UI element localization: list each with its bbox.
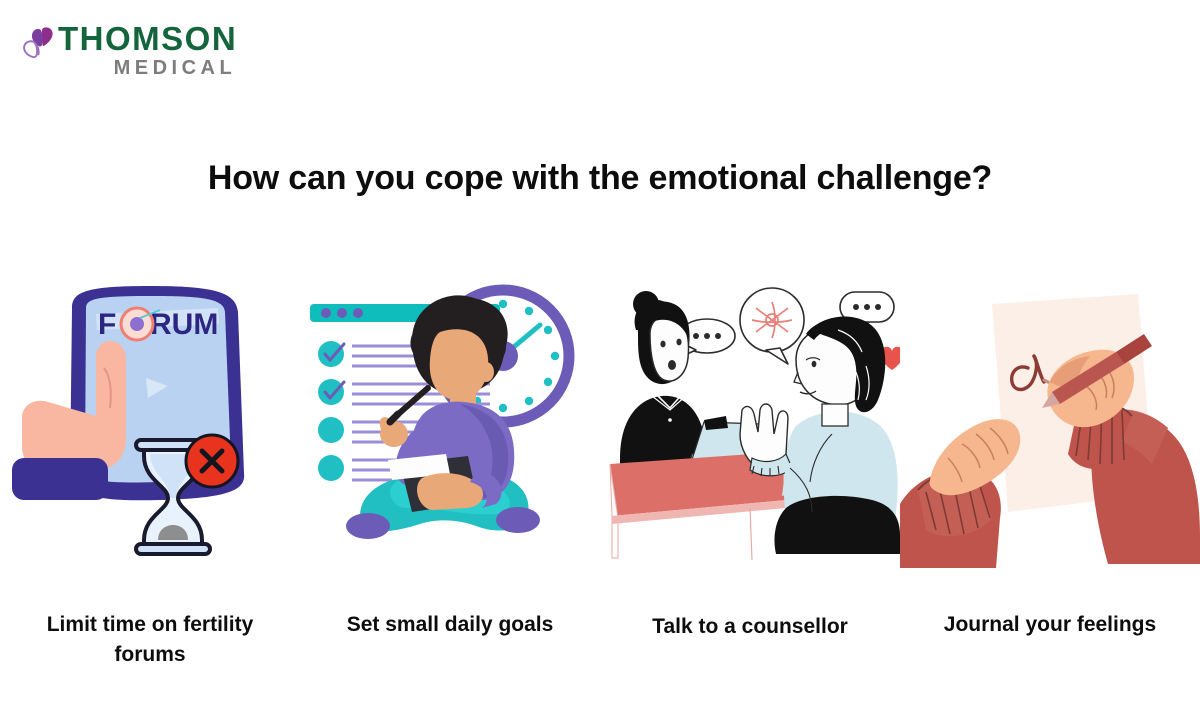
forum-letter-f: F (98, 308, 116, 341)
sleeve-cuff (12, 458, 108, 500)
tip-caption-3: Talk to a counsellor (630, 612, 870, 642)
checklist-checkbox-4[interactable] (318, 455, 344, 481)
tips-row: F RUM (0, 268, 1200, 670)
tip-caption-1: Limit time on fertility forums (30, 610, 270, 670)
hands-writing-journal-illustration (900, 268, 1200, 568)
speech-bubble-scribble (740, 288, 804, 364)
tip-card-limit-forum-time: F RUM (0, 268, 300, 670)
forum-letters-rum: RUM (150, 308, 218, 341)
butterfly-heart-logo-icon (20, 24, 56, 64)
tip-card-journal-feelings: Journal your feelings (900, 268, 1200, 670)
tip-caption-4: Journal your feelings (930, 610, 1170, 640)
tip-caption-2: Set small daily goals (330, 610, 570, 640)
brand-wordmark: THOMSON MEDICAL (58, 22, 237, 82)
tip-card-set-daily-goals: Set small daily goals (300, 268, 600, 670)
brand-name-primary: THOMSON (58, 22, 237, 55)
checklist-checkbox-1[interactable] (318, 341, 344, 367)
client-figure (740, 317, 900, 555)
brand-name-secondary: MEDICAL (58, 55, 237, 82)
page-title: How can you cope with the emotional chal… (0, 159, 1200, 198)
checklist-checkbox-2[interactable] (318, 379, 344, 405)
red-x-circle-icon (186, 435, 238, 487)
woman-checklist-clock-illustration (300, 268, 600, 568)
checklist-checkbox-3[interactable] (318, 417, 344, 443)
brand-logo: THOMSON MEDICAL (20, 22, 237, 82)
tablet-forum-hand-hourglass-illustration: F RUM (0, 268, 300, 568)
counselling-session-illustration (600, 268, 900, 568)
tip-card-talk-to-counsellor: Talk to a counsellor (600, 268, 900, 670)
